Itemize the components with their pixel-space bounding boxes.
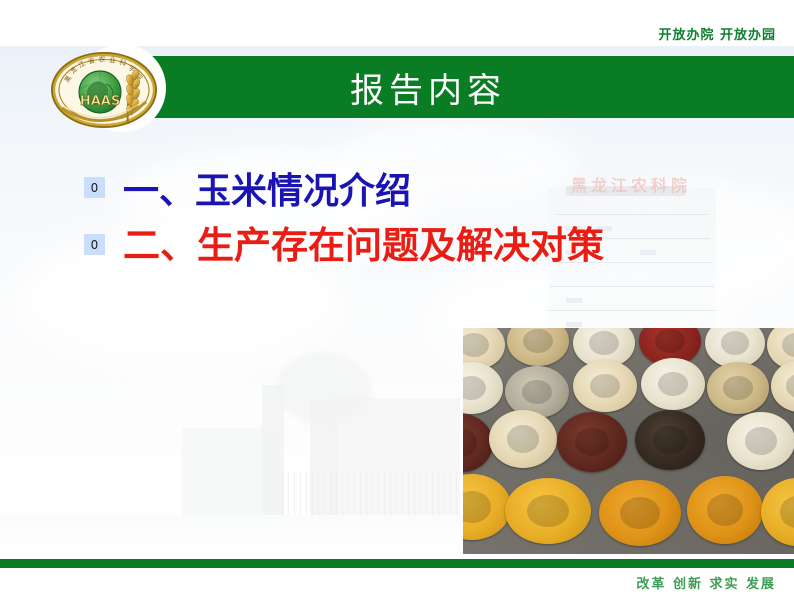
header-tagline: 开放办院 开放办园 [658,24,776,43]
list-item[interactable]: 0 二、生产存在问题及解决对策 [84,220,704,274]
corn-cob-photo [463,328,794,554]
haas-emblem: 黑 龙 江 省 农 业 科 学 院 HAAS [48,50,160,130]
title-banner: 报告内容 [92,56,794,118]
building-floor-line [549,310,715,311]
corn-rosette [761,478,794,546]
corn-rosette [727,412,794,470]
presentation-slide: 黑龙江农科院 开放办院 开放办园 报告内容 [0,0,794,600]
corn-rosette [507,328,569,366]
footer-slogan: 改革 创新 求实 发展 [636,573,776,592]
corn-rosette [489,410,557,468]
building-window [566,298,582,303]
haas-emblem-icon: 黑 龙 江 省 农 业 科 学 院 HAAS [48,50,160,130]
corn-rosette [463,474,511,540]
list-item-label: 一、玉米情况介绍 [123,166,411,216]
background-gate-pillar [262,385,284,517]
list-item-label: 二、生产存在问题及解决对策 [123,220,604,270]
corn-rosette [505,478,591,544]
page-title: 报告内容 [92,56,794,118]
content-list: 0 一、玉米情况介绍 0 二、生产存在问题及解决对策 [84,166,704,274]
photo-surface [463,328,794,554]
corn-rosette [557,412,627,472]
corn-rosette [687,476,763,544]
svg-text:HAAS: HAAS [80,94,120,109]
corn-rosette [463,362,503,414]
building-window [566,322,582,327]
corn-rosette [573,360,637,412]
list-item[interactable]: 0 一、玉米情况介绍 [84,166,704,220]
bullet-marker-icon: 0 [84,177,105,198]
footer-rule [0,559,794,568]
building-floor-line [550,286,714,287]
corn-rosette [771,360,794,412]
background-fence [282,472,462,516]
corn-rosette [641,358,705,410]
corn-rosette [635,410,705,470]
bullet-marker-icon: 0 [84,234,105,255]
corn-rosette [599,480,681,546]
corn-rosette [707,362,769,414]
